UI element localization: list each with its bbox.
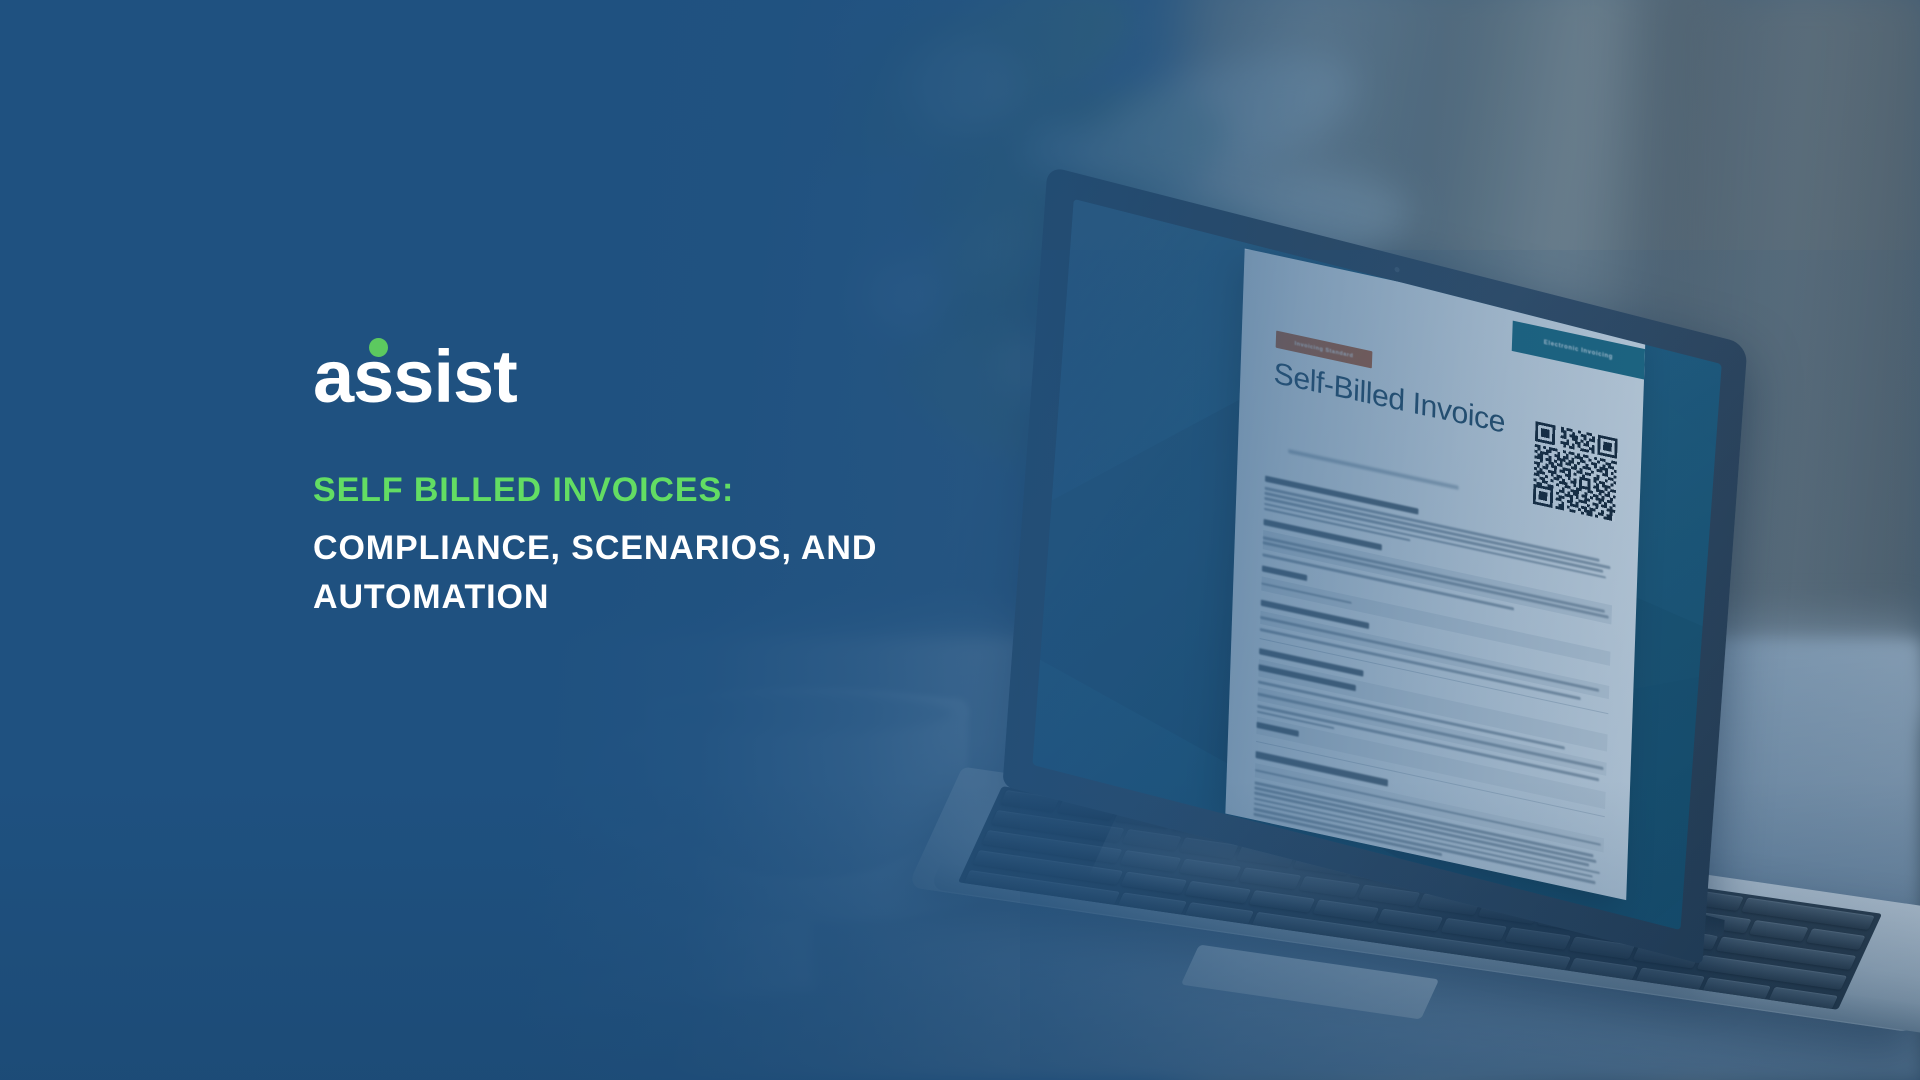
assist-logo[interactable]: assist [313, 340, 1133, 428]
logo-wordmark: assist [313, 340, 1133, 414]
green-dot-accent-icon [369, 338, 388, 357]
page-title-green: SELF BILLED INVOICES: [313, 470, 1133, 510]
page-subtitle-white: COMPLIANCE, SCENARIOS, AND AUTOMATION [313, 524, 1103, 623]
bottom-vignette [0, 780, 1920, 1080]
hero-banner: Electronic Invoicing Invoicing Standard … [0, 0, 1920, 1080]
hero-content: assist SELF BILLED INVOICES: COMPLIANCE,… [313, 340, 1133, 623]
